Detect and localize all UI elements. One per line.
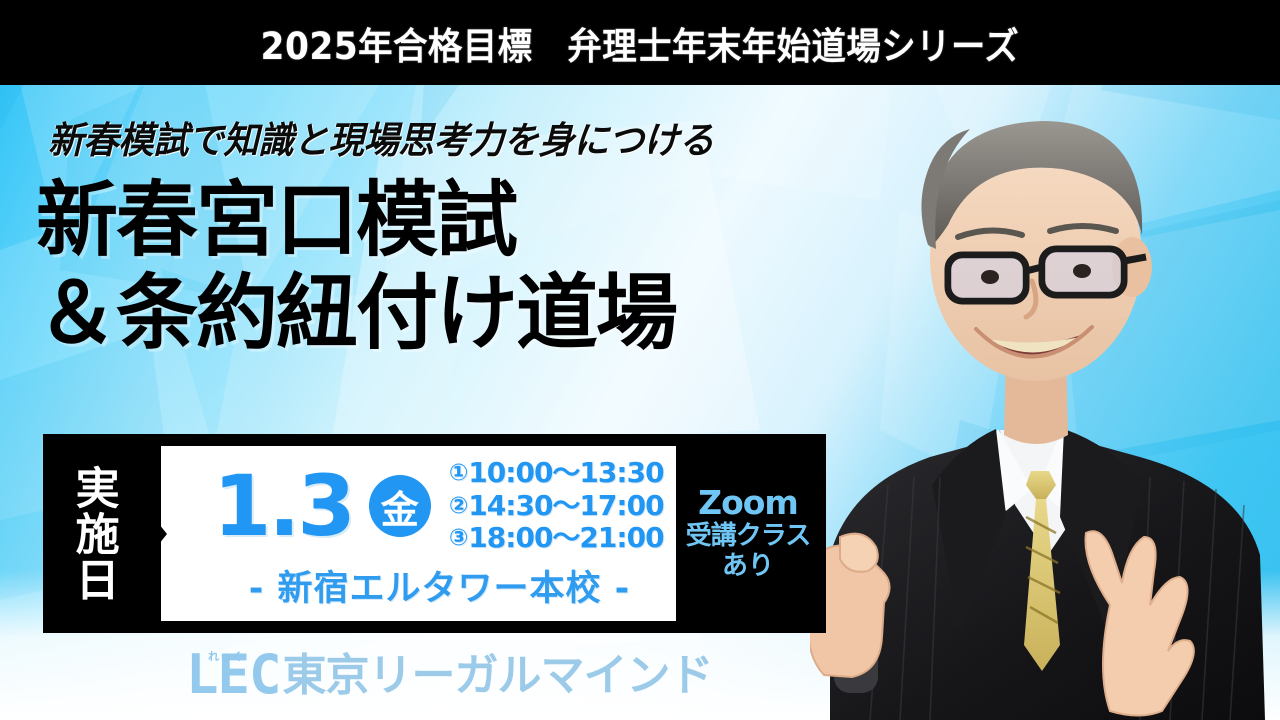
headline-title: 新春宮口模試 ＆条約紐付け道場 bbox=[36, 174, 916, 361]
schedule-label-text: 実施日 bbox=[68, 465, 117, 603]
time-slot-number: ① bbox=[449, 460, 467, 487]
time-slot-number: ③ bbox=[449, 525, 467, 552]
zoom-note-line-1: Zoom bbox=[698, 485, 798, 521]
time-slot-range: 10:00〜13:30 bbox=[468, 456, 663, 489]
lec-logo-name: 東京リーガルマインド bbox=[283, 654, 713, 700]
schedule-box: 実施日 1.3 金 ①10:00〜13:30 ②14:30〜17:00 ③18:… bbox=[43, 434, 826, 633]
lec-logo: れっく LEC 東京リーガルマインド bbox=[186, 651, 713, 700]
time-slot-item: ①10:00〜13:30 bbox=[449, 457, 664, 489]
time-slot-range: 18:00〜21:00 bbox=[468, 521, 663, 554]
zoom-note-line-2: 受講クラス bbox=[686, 522, 810, 552]
time-slot-list: ①10:00〜13:30 ②14:30〜17:00 ③18:00〜21:00 bbox=[449, 457, 664, 554]
lec-logo-ruby: れっく bbox=[208, 648, 244, 664]
top-banner-text: 2025年合格目標 弁理士年末年始道場シリーズ bbox=[261, 16, 1020, 70]
schedule-panel: 1.3 金 ①10:00〜13:30 ②14:30〜17:00 ③18:00〜2… bbox=[161, 446, 676, 621]
lec-logo-mark: れっく LEC bbox=[186, 651, 281, 700]
top-banner: 2025年合格目標 弁理士年末年始道場シリーズ bbox=[0, 0, 1280, 85]
time-slot-range: 14:30〜17:00 bbox=[468, 489, 663, 522]
thumbnail-canvas: 2025年合格目標 弁理士年末年始道場シリーズ 新春模試で知識と現場思考力を身に… bbox=[0, 0, 1280, 720]
time-slot-item: ③18:00〜21:00 bbox=[449, 522, 664, 554]
headline-title-line-1: 新春宮口模試 bbox=[36, 174, 916, 267]
schedule-label: 実施日 bbox=[43, 434, 143, 633]
headline-subtitle: 新春模試で知識と現場思考力を身につける bbox=[48, 110, 881, 164]
headline-block: 新春模試で知識と現場思考力を身につける 新春宮口模試 ＆条約紐付け道場 bbox=[36, 110, 916, 361]
day-of-week-badge: 金 bbox=[369, 475, 431, 537]
zoom-note-line-3: あり bbox=[722, 552, 774, 582]
schedule-date-row: 1.3 金 ①10:00〜13:30 ②14:30〜17:00 ③18:00〜2… bbox=[213, 452, 666, 560]
event-date: 1.3 bbox=[213, 464, 353, 548]
venue-text: - 新宿エルタワー本校 - bbox=[213, 560, 666, 615]
headline-title-line-2: ＆条約紐付け道場 bbox=[36, 267, 916, 360]
time-slot-item: ②14:30〜17:00 bbox=[449, 490, 664, 522]
time-slot-number: ② bbox=[449, 493, 467, 520]
zoom-class-note: Zoom 受講クラス あり bbox=[676, 434, 826, 633]
